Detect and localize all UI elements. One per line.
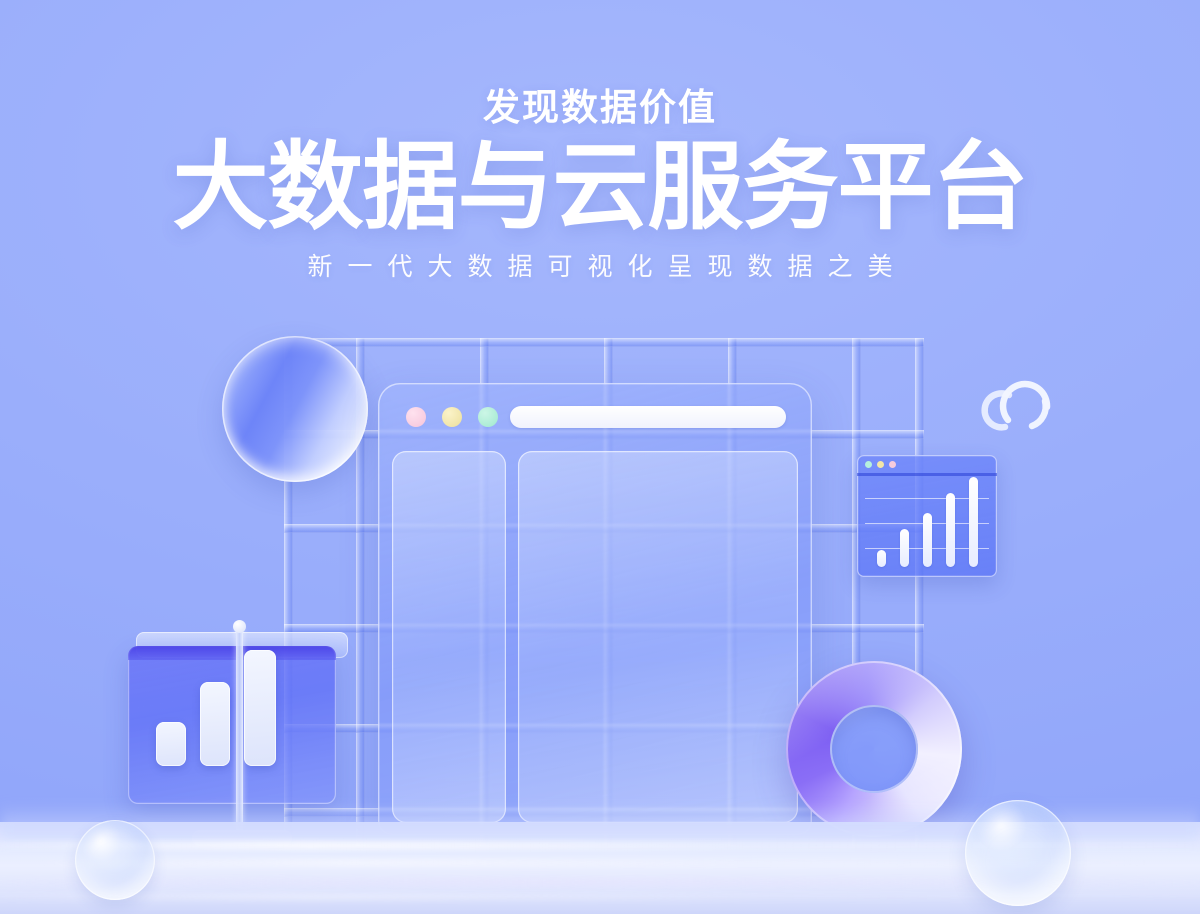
minimize-dot[interactable] <box>442 407 462 427</box>
glass-disk <box>222 336 368 482</box>
glass-sphere-small <box>75 820 155 900</box>
hero-eyebrow: 发现数据价值 <box>0 86 1200 130</box>
minimize-dot[interactable] <box>877 461 884 468</box>
close-dot[interactable] <box>889 461 896 468</box>
content-panel[interactable] <box>518 451 798 823</box>
mini-chart-window[interactable] <box>857 455 997 577</box>
cloud-icon <box>975 365 1067 435</box>
chart-bar <box>946 493 955 567</box>
close-dot[interactable] <box>406 407 426 427</box>
address-bar-input[interactable] <box>510 406 786 428</box>
banner-stage: 发现数据价值 大数据与云服务平台 新一代大数据可视化呈现数据之美 <box>0 0 1200 914</box>
board-bar <box>156 722 186 766</box>
chart-bar <box>923 513 932 567</box>
maximize-dot[interactable] <box>865 461 872 468</box>
chart-bar <box>877 550 886 567</box>
chart-bar <box>900 529 909 567</box>
chart-bar <box>969 477 978 567</box>
board-bar <box>200 682 230 766</box>
browser-mockup[interactable] <box>378 383 812 835</box>
hero-subtitle: 新一代大数据可视化呈现数据之美 <box>0 247 1200 283</box>
board-screen <box>128 646 336 804</box>
bar-chart <box>857 476 997 577</box>
page-title: 大数据与云服务平台 <box>0 138 1200 238</box>
monitor-pole-cap <box>233 620 246 633</box>
maximize-dot[interactable] <box>478 407 498 427</box>
glass-sphere-large <box>965 800 1071 906</box>
sidebar-panel[interactable] <box>392 451 506 823</box>
board-bar <box>244 650 276 766</box>
mini-chart-titlebar <box>857 455 997 473</box>
grid-hline <box>284 338 924 347</box>
hero-text: 发现数据价值 大数据与云服务平台 新一代大数据可视化呈现数据之美 <box>0 86 1200 283</box>
browser-titlebar <box>378 383 812 445</box>
